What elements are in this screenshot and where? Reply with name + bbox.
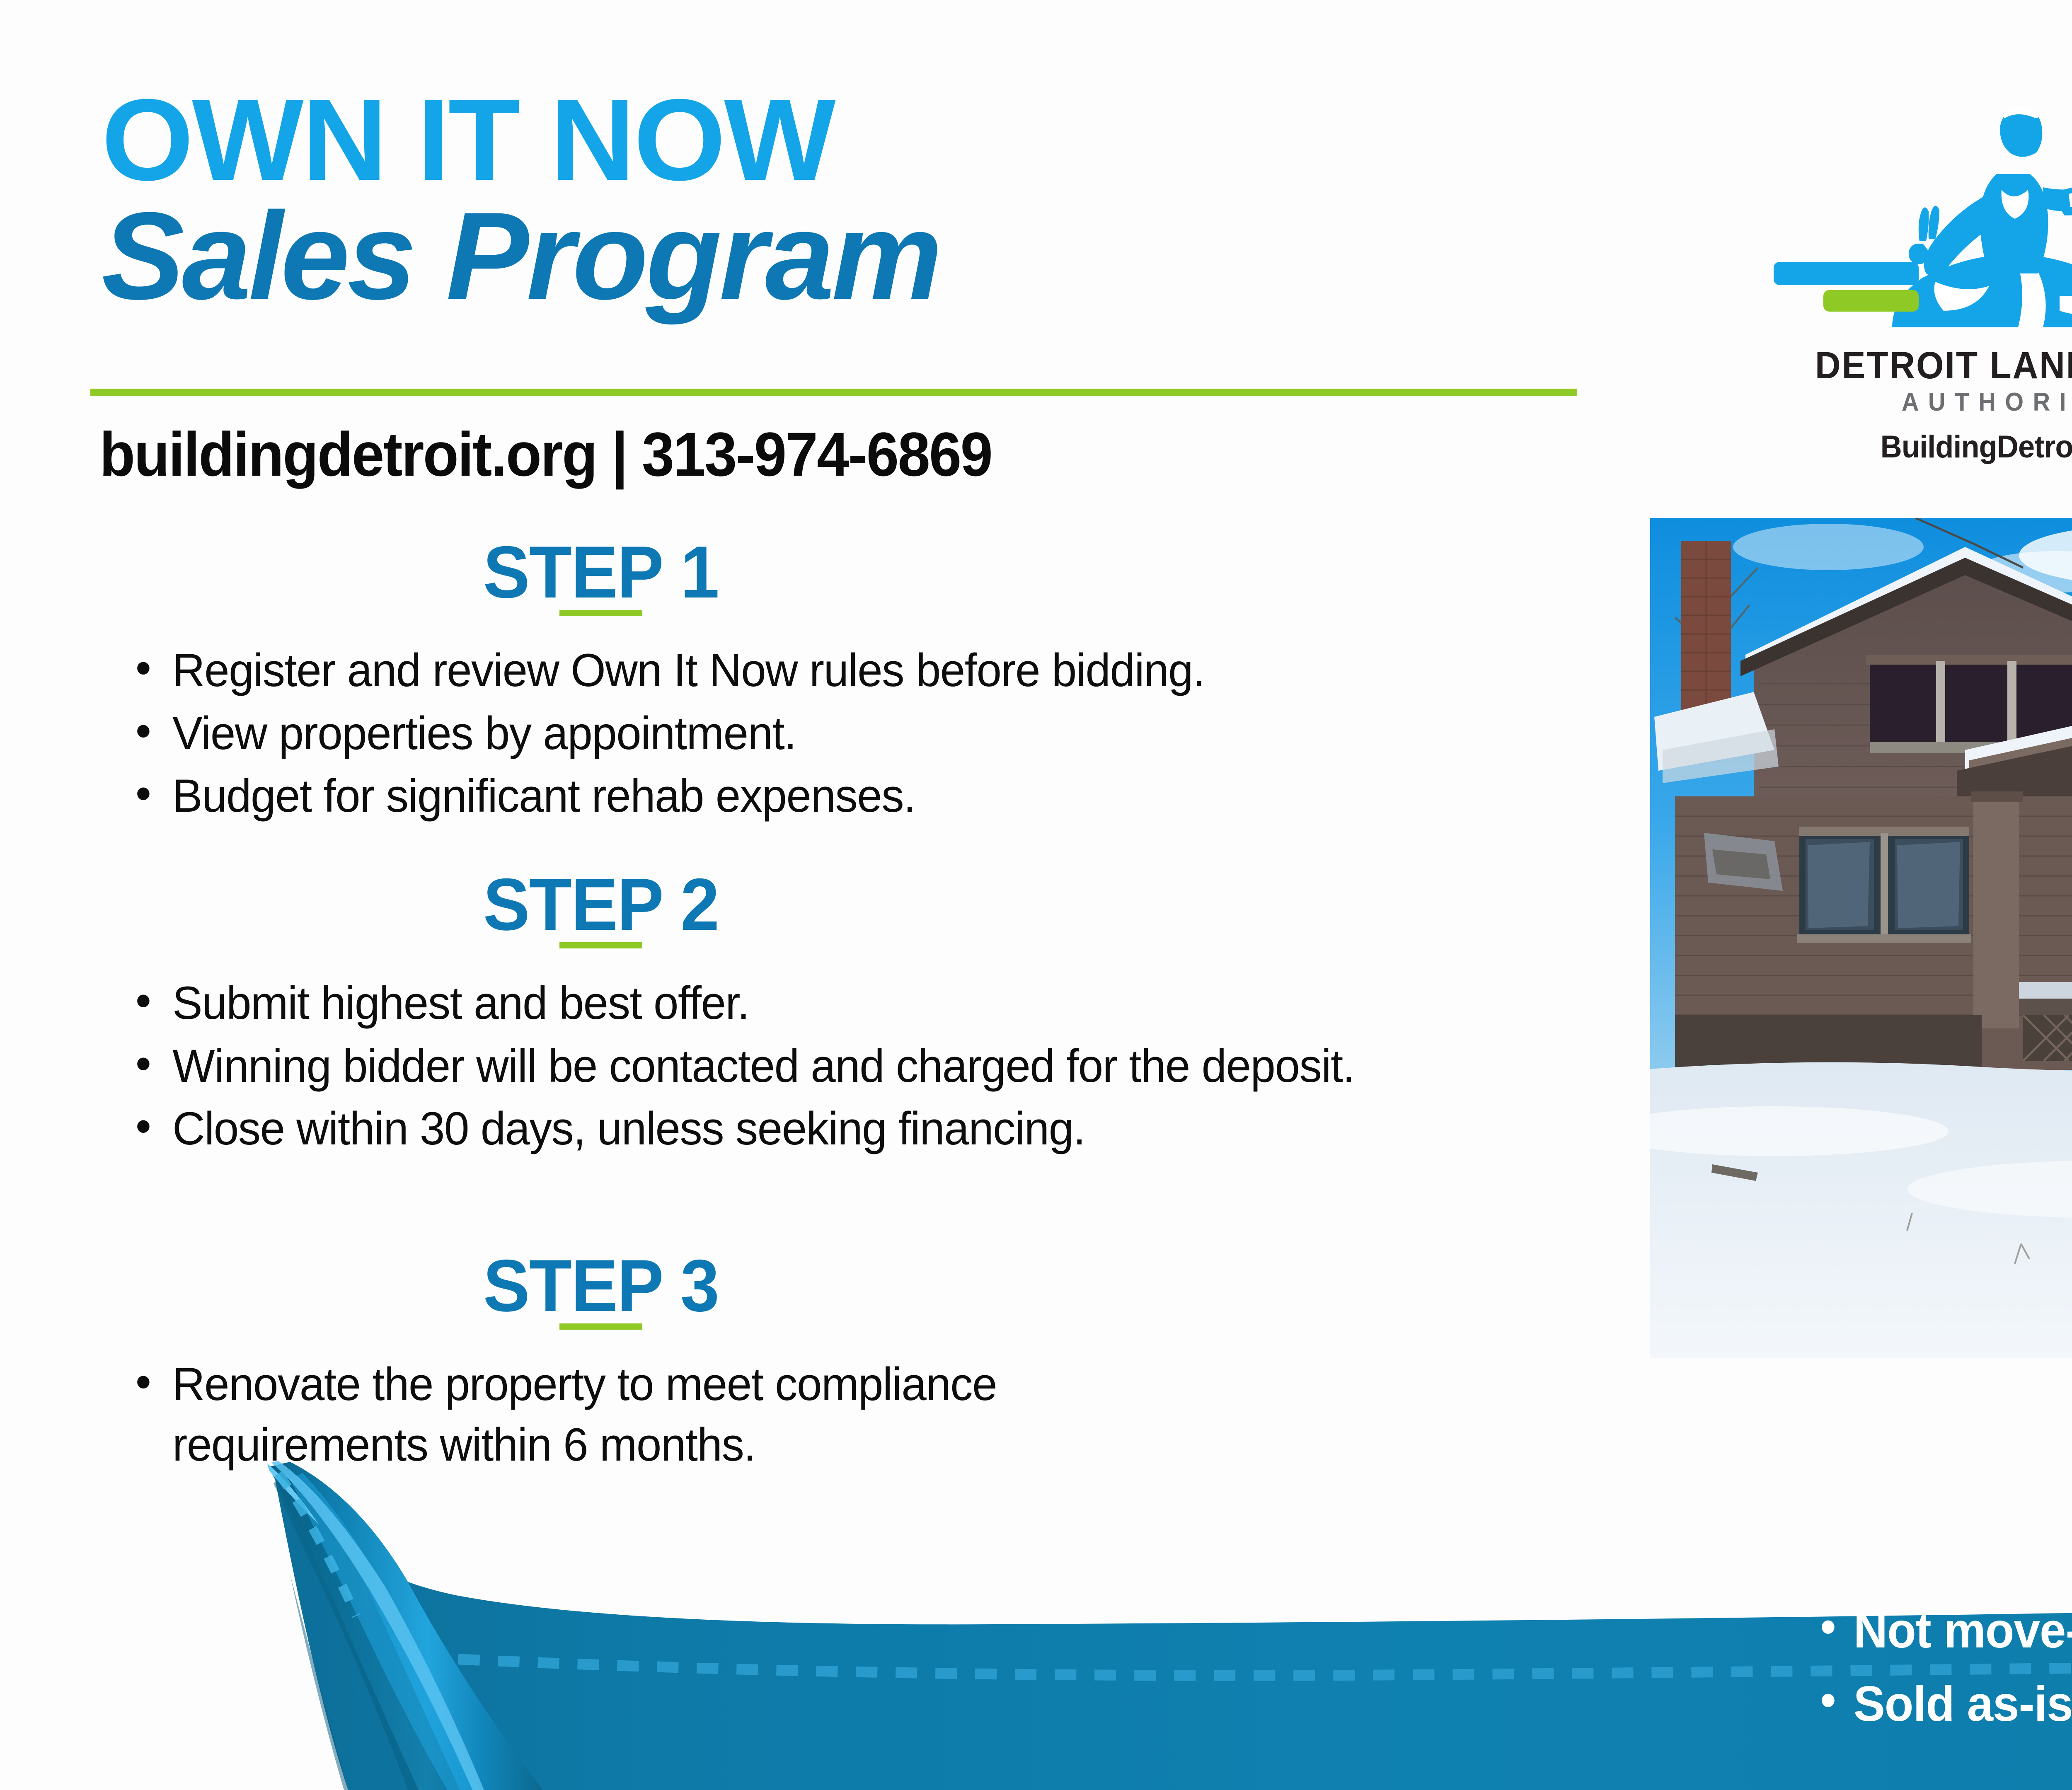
list-item: Submit highest and best offer. — [120, 973, 1362, 1033]
list-item: Close within 30 days, unless seeking fin… — [120, 1098, 1362, 1159]
list-item: Budget for significant rehab expenses. — [120, 766, 1495, 826]
step-1-underline — [559, 610, 642, 616]
step-2-bullet-list: Submit highest and best offer. Winning b… — [120, 973, 1401, 1161]
page-title-line1: OWN IT NOW — [102, 85, 834, 195]
logo-name-text: DETROIT LAND BANK — [1786, 344, 2072, 387]
banner-bullet-list: Not move-in ready Sold as-is, where-is — [1812, 1594, 2072, 1741]
step-3-underline — [559, 1323, 642, 1330]
step-1-heading: STEP 1 — [365, 530, 837, 614]
detroit-land-bank-logo: DETROIT LAND BANK AUTHORITY BuildingDetr… — [1769, 79, 2072, 464]
step-1-bullet-list: Register and review Own It Now rules bef… — [120, 640, 1537, 829]
page-title-line2: Sales Program — [102, 197, 940, 315]
title-green-divider — [90, 389, 1577, 396]
list-item: Sold as-is, where-is — [1812, 1667, 2072, 1741]
flyer-canvas: OWN IT NOW Sales Program buildingdetroit… — [0, 0, 2072, 1790]
logo-url-text: BuildingDetroit.org — [1782, 429, 2072, 465]
step-2-heading: STEP 2 — [365, 862, 837, 947]
contact-line: buildingdetroit.org | 313-974-6869 — [99, 418, 992, 490]
list-item: View properties by appointment. — [120, 703, 1495, 764]
list-item: Not move-in ready — [1812, 1594, 2072, 1668]
logo-accent-bars — [1769, 253, 2072, 315]
logo-authority-text: AUTHORITY — [1786, 387, 2072, 417]
bottom-banner: Not move-in ready Sold as-is, where-is — [0, 1401, 2072, 1790]
step-2-underline — [559, 942, 642, 948]
step-3-heading: STEP 3 — [365, 1243, 837, 1328]
list-item: Winning bidder will be contacted and cha… — [120, 1036, 1362, 1096]
property-photo — [1650, 518, 2072, 1358]
list-item: Register and review Own It Now rules bef… — [120, 640, 1495, 701]
